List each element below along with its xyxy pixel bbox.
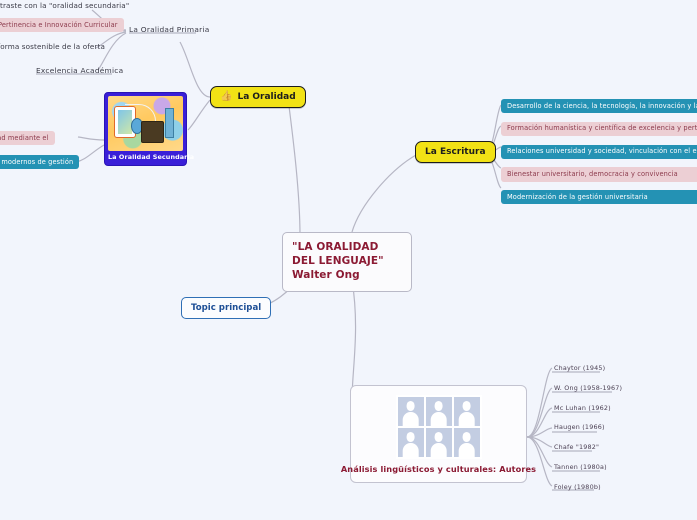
escritura-leaf-list: Desarrollo de la ciencia, la tecnología,… [501, 99, 697, 213]
thumbs-up-icon: 👍 [220, 92, 232, 102]
leaf-modernizacion-gestion[interactable]: Modernización de la gestión universitari… [501, 190, 697, 204]
leaf-author-chafe[interactable]: Chafe "1982" [554, 441, 622, 461]
leaf-author-w-ong[interactable]: W. Ong (1958-1967) [554, 382, 622, 402]
leaf-author-haugen[interactable]: Haugen (1966) [554, 421, 622, 441]
leaf-forma-sostenible-oferta[interactable]: en forma sostenible de la oferta [0, 40, 111, 54]
leaf-sistemas-modernos-gestion[interactable]: temas modernos de gestión [0, 155, 79, 169]
image-node-caption: La Oralidad Secundaria [108, 151, 183, 164]
leaf-excelencia-academica[interactable]: Excelencia Académica [36, 66, 123, 75]
leaf-formacion-humanistica[interactable]: Formación humanística y científica de ex… [501, 122, 697, 136]
branch-label-la-oralidad: La Oralidad [237, 92, 295, 102]
leaf-author-foley[interactable]: Foley (1980b) [554, 481, 622, 501]
leaf-la-oralidad-primaria[interactable]: La Oralidad Primaria [129, 25, 210, 34]
oralidad-secundaria-illustration-icon [108, 96, 183, 151]
branch-node-la-escritura[interactable]: La Escritura [415, 141, 496, 163]
leaf-desarrollo-ciencia[interactable]: Desarrollo de la ciencia, la tecnología,… [501, 99, 697, 113]
image-node-analisis-autores[interactable]: Análisis lingüísticos y culturales: Auto… [350, 385, 527, 483]
mindmap-canvas: "LA ORALIDAD DEL LENGUAJE" Walter Ong 👍 … [0, 0, 697, 520]
people-grid-icon [396, 395, 482, 459]
branch-label-la-escritura: La Escritura [425, 147, 486, 157]
branch-node-la-oralidad[interactable]: 👍 La Oralidad [210, 86, 306, 108]
leaf-oralidad-mediante-el[interactable]: ralidad mediante el [0, 131, 55, 145]
authors-leaf-list: Chaytor (1945) W. Ong (1958-1967) Mc Luh… [554, 362, 622, 501]
leaf-author-mc-luhan[interactable]: Mc Luhan (1962) [554, 402, 622, 422]
leaf-contraste-oralidad-secundaria[interactable]: traste con la "oralidad secundaria" [0, 0, 135, 12]
leaf-bienestar-universitario[interactable]: Bienestar universitario, democracia y co… [501, 167, 697, 181]
authors-node-caption: Análisis lingüísticos y culturales: Auto… [341, 464, 536, 474]
leaf-pertinencia-innovacion-curricular[interactable]: Pertinencia e Innovación Curricular [0, 18, 124, 32]
leaf-author-chaytor[interactable]: Chaytor (1945) [554, 362, 622, 382]
leaf-relaciones-universidad-sociedad[interactable]: Relaciones universidad y sociedad, vincu… [501, 145, 697, 159]
branch-node-topic-principal[interactable]: Topic principal [181, 297, 271, 319]
image-node-la-oralidad-secundaria[interactable]: La Oralidad Secundaria [104, 92, 187, 166]
central-topic-node[interactable]: "LA ORALIDAD DEL LENGUAJE" Walter Ong [282, 232, 412, 292]
leaf-author-tannen[interactable]: Tannen (1980a) [554, 461, 622, 481]
